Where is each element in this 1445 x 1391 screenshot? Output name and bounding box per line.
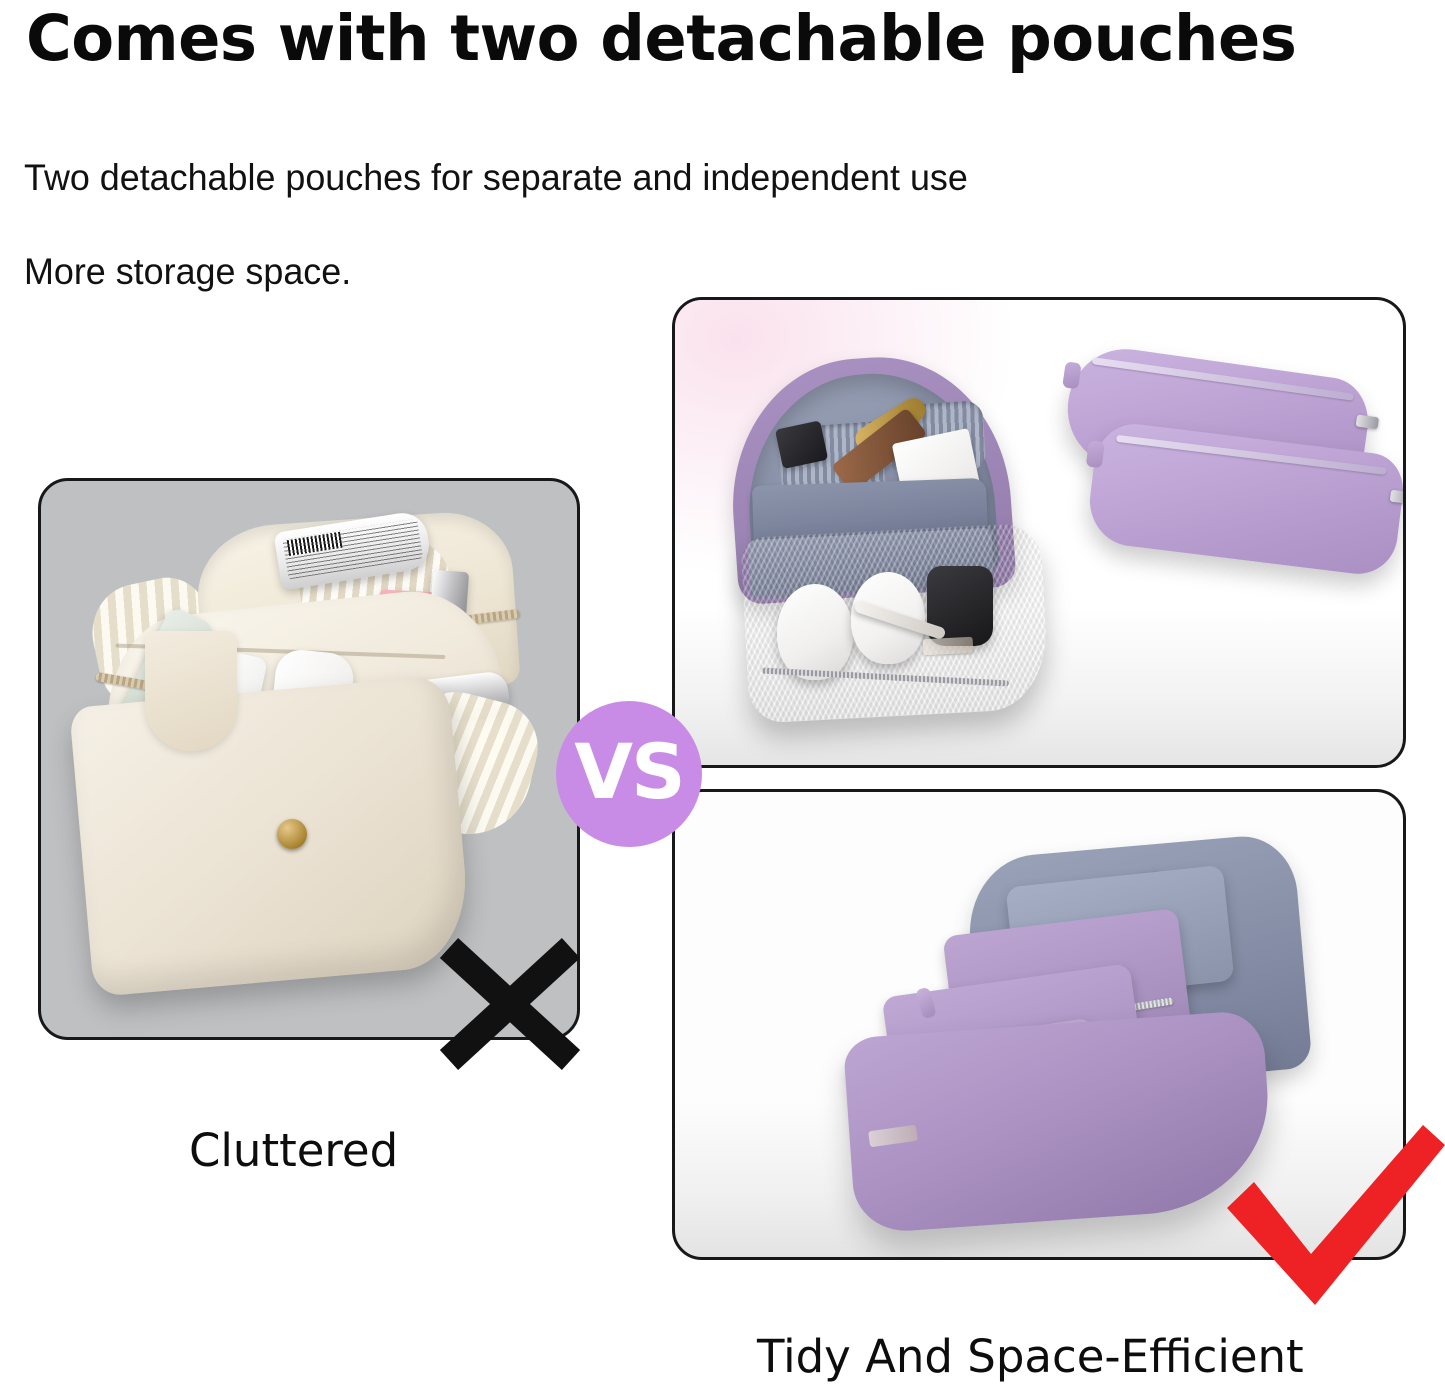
subtitle-line-2: More storage space. xyxy=(24,251,351,293)
check-mark-icon xyxy=(1223,1125,1445,1330)
white-jar-left xyxy=(777,584,853,680)
bag-body xyxy=(69,675,473,997)
bag-base-shell xyxy=(843,1010,1276,1235)
pouch-hang-tab xyxy=(1086,440,1105,468)
bag-snap-flap xyxy=(145,631,237,751)
pouch-hang-tab xyxy=(1062,362,1081,390)
snap-button xyxy=(277,819,307,849)
vs-badge: VS xyxy=(556,701,702,847)
vs-label: VS xyxy=(574,734,684,810)
x-mark-icon xyxy=(437,938,583,1074)
label-tidy: Tidy And Space-Efficient xyxy=(757,1330,1304,1383)
page-title: Comes with two detachable pouches xyxy=(26,2,1296,75)
brand-logo-tag xyxy=(923,637,974,656)
pouch-zipper xyxy=(1092,357,1354,401)
purple-bag-open xyxy=(731,358,1061,708)
label-cluttered: Cluttered xyxy=(189,1124,398,1177)
comparison-card-pouches xyxy=(672,297,1406,768)
zipper-pull-icon xyxy=(1390,490,1406,505)
infographic-page: Comes with two detachable pouches Two de… xyxy=(0,0,1445,1391)
zipper-pull-icon xyxy=(1356,414,1379,429)
subtitle-line-1: Two detachable pouches for separate and … xyxy=(24,157,968,199)
